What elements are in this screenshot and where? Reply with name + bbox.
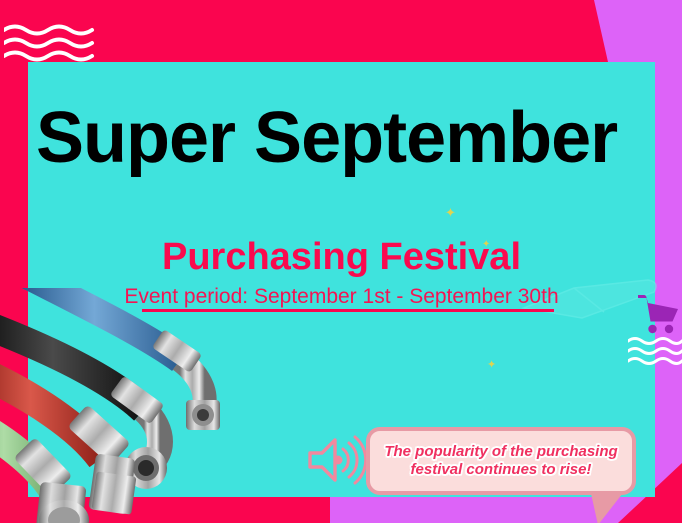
promotional-banner: ✦ ✦ ✦ Super September Purchasing Festiva… bbox=[0, 0, 682, 523]
speech-bubble: The popularity of the purchasing festiva… bbox=[366, 427, 636, 495]
page-title: Super September bbox=[36, 102, 656, 174]
megaphone-icon bbox=[306, 434, 368, 486]
subtitle: Purchasing Festival bbox=[28, 238, 655, 278]
product-image-hydraulic-hoses bbox=[0, 288, 266, 523]
speech-bubble-text: The popularity of the purchasing festiva… bbox=[370, 443, 632, 478]
